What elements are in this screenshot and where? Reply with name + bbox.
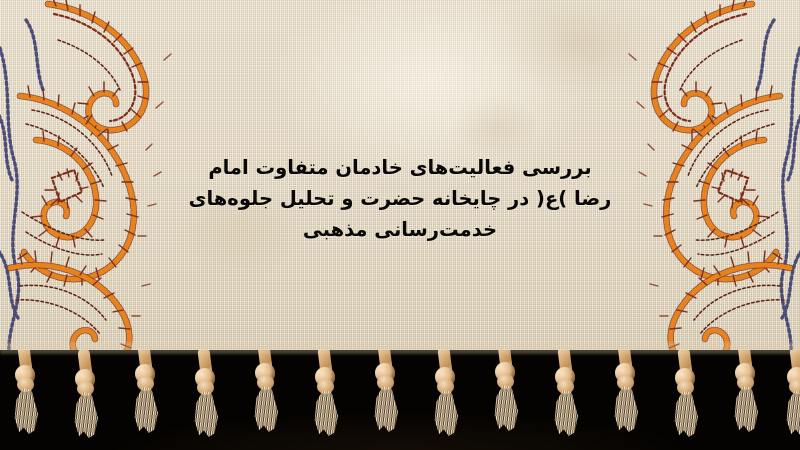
tassel <box>428 350 462 438</box>
tassel <box>780 350 800 438</box>
tassel-skirt <box>672 391 699 437</box>
tassel <box>8 350 42 436</box>
tassel-skirt <box>372 386 399 432</box>
title-line-3: خدمت‌رسانی مذهبی <box>185 214 615 245</box>
tassel-skirt <box>192 391 219 437</box>
knotted-tassel-fringe <box>0 350 800 450</box>
cloth-edge-fibers <box>0 342 800 354</box>
tassel <box>668 350 702 439</box>
slide-canvas: .chain{fill:none;stroke:#e8821f;stroke-w… <box>0 0 800 450</box>
tassel <box>548 350 582 438</box>
tassel <box>188 350 222 439</box>
tassel <box>248 350 282 434</box>
tassel <box>368 350 402 434</box>
tassel <box>488 350 522 433</box>
tassel-skirt <box>612 386 639 432</box>
tassel-skirt <box>432 390 459 436</box>
tassel <box>308 350 342 438</box>
title-line-1: بررسی فعالیت‌های خادمان متفاوت امام <box>185 152 615 183</box>
tassel-skirt <box>312 390 339 436</box>
tassel-skirt <box>252 386 279 432</box>
title-line-2: رضا )ع( در چایخانه حضرت و تحلیل جلوه‌های <box>185 183 615 214</box>
tassel-skirt <box>784 390 800 436</box>
slide-title: بررسی فعالیت‌های خادمان متفاوت امام رضا … <box>185 152 615 245</box>
tassel-skirt <box>492 385 519 431</box>
tassel <box>728 350 762 434</box>
tassel <box>608 350 642 434</box>
tassel <box>68 350 102 440</box>
tassel-skirt <box>732 386 759 432</box>
tassel <box>128 350 162 435</box>
tassel-skirt <box>132 387 159 433</box>
tassel-skirt <box>552 390 579 436</box>
tassel-skirt <box>72 392 99 438</box>
tassel-skirt <box>12 388 39 434</box>
